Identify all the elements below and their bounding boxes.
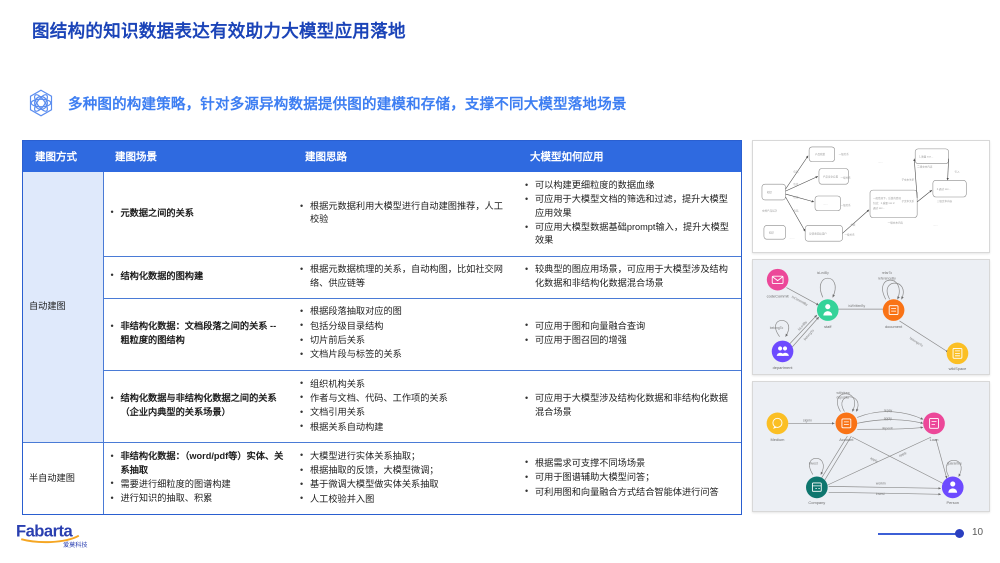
list-item: 人工校验并入图 [299, 493, 510, 506]
list-item: 根据抽取的反馈，大模型微调； [299, 464, 510, 477]
enterprise-knowledge-graph-image: codeCommit staff department docu [752, 259, 990, 375]
approach-list: 根据元数据利用大模型进行自动建图推荐，人工校验 [299, 200, 510, 227]
list-item: 根据段落抽取对应的图 [299, 305, 510, 318]
list-item: 根据需求可支撑不同场场景 [524, 457, 733, 470]
list-item: 切片前后关系 [299, 334, 510, 347]
list-item: 非结构化数据：（word/pdf等）实体、关系抽取 [110, 450, 286, 477]
list-item: 可应用于大模型涉及结构化数据和非结构化数据混合场景 [524, 392, 733, 419]
graph-network-icon [26, 88, 56, 118]
list-item: 可应用大模型数据基础prompt输入，提升大模型效果 [524, 221, 733, 248]
svg-text:包括: 包括 [793, 169, 799, 173]
svg-text:guarantee: guarantee [947, 462, 962, 466]
svg-text:一级关系: 一级关系 [841, 175, 852, 179]
list-item: 可用于图谱辅助大模型问答； [524, 471, 733, 484]
list-item: 较典型的图应用场景，可应用于大模型涉及结构化数据和非结构化数据混合场景 [524, 263, 733, 290]
list-item: 根据元数据梳理的关系，自动构图，比如社交网络、供应链等 [299, 263, 510, 290]
table-row: 自动建图元数据之间的关系根据元数据利用大模型进行自动建图推荐，人工校验可以构建更… [23, 172, 741, 256]
list-item: 作者与文档、代码、工作项的关系 [299, 392, 510, 405]
cell-scene: 非结构化数据：文档段落之间的关系 -- 粗粒度的图结构 [103, 298, 293, 370]
svg-text:……: …… [789, 237, 795, 240]
svg-text:referenceBy: referenceBy [878, 277, 896, 281]
cell-scene: 结构化数据与非结构化数据之间的关系（企业内典型的关系场景） [103, 370, 293, 442]
list-item: 文档引用关系 [299, 406, 510, 419]
table-row: 结构化数据与非结构化数据之间的关系（企业内典型的关系场景）组织机构关系作者与文档… [23, 370, 741, 442]
cell-scene: 结构化数据的图构建 [103, 256, 293, 298]
list-item: 包括分级目录结构 [299, 320, 510, 333]
list-item: 可应用于大模型文档的筛选和过滤，提升大模型应用效果 [524, 193, 733, 220]
svg-text:包括: 包括 [793, 195, 799, 199]
cell-application: 可应用于图和向量融合查询可应用于图召回的增强 [518, 298, 741, 370]
cell-method-auto: 自动建图 [23, 172, 103, 442]
svg-text:wikiSpace: wikiSpace [949, 366, 967, 371]
svg-text:Account: Account [839, 437, 854, 442]
table-header-row: 建图方式 建图场景 建图思路 大模型如何应用 [23, 141, 741, 172]
svg-text:2.通过 xxx…: 2.通过 xxx… [937, 187, 952, 191]
list-item: 大模型进行实体关系抽取； [299, 450, 510, 463]
list-item: 元数据之间的关系 [110, 207, 286, 220]
metadata-lineage-flowchart-image: 知识产品政策 产品安全应用…… 反馈意见给用户知识 一般情况下，反馈的情况包括：… [752, 140, 990, 253]
cell-scene: 元数据之间的关系 [103, 172, 293, 256]
svg-text:Fabarta: Fabarta [16, 522, 73, 541]
list-item: 可以构建更细粒度的数据血缘 [524, 179, 733, 192]
node-wikispace: wikiSpace [947, 343, 969, 372]
svg-text:包括: 包括 [793, 209, 799, 213]
svg-text:Loan: Loan [930, 437, 939, 442]
svg-text:signIn: signIn [803, 418, 812, 422]
svg-text:repay: repay [884, 409, 893, 413]
list-item: 根据元数据利用大模型进行自动建图推荐，人工校验 [299, 200, 510, 227]
node-document: document [883, 299, 905, 329]
svg-text:包括：1.质量 xxx 2.: 包括：1.质量 xxx 2. [873, 201, 896, 205]
svg-text:isWrittenBy: isWrittenBy [848, 304, 865, 308]
col-header-method: 建图方式 [23, 141, 103, 172]
svg-text:……: …… [933, 223, 939, 226]
cell-approach: 大模型进行实体关系抽取；根据抽取的反馈，大模型微调；基于微调大模型做实体关系抽取… [293, 442, 518, 514]
slide-canvas: 图结构的知识数据表达有效助力大模型应用落地 多种图的构建策略，针对多源异构数据提… [0, 0, 1000, 563]
cell-approach: 根据元数据利用大模型进行自动建图推荐，人工校验 [293, 172, 518, 256]
svg-text:子文本关系: 子文本关系 [901, 177, 914, 181]
list-item: 可应用于图和向量融合查询 [524, 320, 733, 333]
svg-text:关联: 关联 [850, 222, 856, 226]
page-number: 10 [972, 527, 983, 538]
svg-text:document: document [885, 324, 903, 329]
svg-text:withdraw: withdraw [837, 391, 851, 395]
svg-text:department: department [773, 365, 794, 370]
svg-text:invest: invest [809, 462, 818, 466]
col-header-application: 大模型如何应用 [518, 141, 741, 172]
svg-text:……: …… [878, 161, 884, 164]
svg-text:codeCommit: codeCommit [767, 293, 790, 298]
list-item: 结构化数据与非结构化数据之间的关系（企业内典型的关系场景） [110, 392, 286, 419]
table-row: 非结构化数据：文档段落之间的关系 -- 粗粒度的图结构根据段落抽取对应的图包括分… [23, 298, 741, 370]
table-row: 半自动建图非结构化数据：（word/pdf等）实体、关系抽取需要进行细粒度的图谱… [23, 442, 741, 514]
svg-text:通过 xxx…: 通过 xxx… [873, 206, 886, 210]
scene-list: 非结构化数据：（word/pdf等）实体、关系抽取需要进行细粒度的图谱构建进行知… [110, 450, 286, 505]
list-item: 非结构化数据：文档段落之间的关系 -- 粗粒度的图结构 [110, 320, 286, 347]
svg-text:belongTo: belongTo [770, 326, 784, 330]
svg-text:apply: apply [884, 416, 892, 420]
node-company: Company [806, 477, 828, 506]
svg-text:……: …… [823, 203, 829, 206]
application-list: 可应用于大模型涉及结构化数据和非结构化数据混合场景 [524, 392, 733, 419]
cell-approach: 根据元数据梳理的关系，自动构图，比如社交网络、供应链等 [293, 256, 518, 298]
col-header-scene: 建图场景 [103, 141, 293, 172]
footer-accent-line [878, 533, 958, 535]
svg-text:一级关系: 一级关系 [841, 203, 852, 207]
footer-accent-dot [955, 529, 964, 538]
svg-text:invest: invest [876, 492, 885, 496]
svg-text:三级文本内容: 三级文本内容 [937, 199, 953, 203]
list-item: 组织机构关系 [299, 378, 510, 391]
svg-text:Medium: Medium [770, 437, 785, 442]
scene-list: 非结构化数据：文档段落之间的关系 -- 粗粒度的图结构 [110, 320, 286, 347]
cell-application: 可以构建更细粒度的数据血缘可应用于大模型文档的筛选和过滤，提升大模型应用效果可应… [518, 172, 741, 256]
svg-text:Person: Person [947, 500, 959, 505]
svg-text:Company: Company [808, 500, 825, 505]
svg-text:爱莫科技: 爱莫科技 [63, 541, 87, 549]
svg-text:知识: 知识 [769, 230, 775, 234]
fabarta-logo: Fabarta 爱莫科技 [16, 520, 112, 552]
approach-list: 根据元数据梳理的关系，自动构图，比如社交网络、供应链等 [299, 263, 510, 290]
svg-text:一级文本内容: 一级文本内容 [888, 221, 904, 225]
col-header-approach: 建图思路 [293, 141, 518, 172]
application-list: 可应用于图和向量融合查询可应用于图召回的增强 [524, 320, 733, 348]
application-list: 根据需求可支撑不同场场景可用于图谱辅助大模型问答；可利用图和向量融合方式结合智能… [524, 457, 733, 499]
svg-text:子文本关系: 子文本关系 [901, 199, 914, 203]
svg-text:一级关系: 一级关系 [839, 152, 850, 156]
cell-scene: 非结构化数据：（word/pdf等）实体、关系抽取需要进行细粒度的图谱构建进行知… [103, 442, 293, 514]
scene-list: 结构化数据的图构建 [110, 270, 286, 283]
cell-application: 可应用于大模型涉及结构化数据和非结构化数据混合场景 [518, 370, 741, 442]
list-item: 文档片段与标签的关系 [299, 348, 510, 361]
cell-approach: 根据段落抽取对应的图包括分级目录结构切片前后关系文档片段与标签的关系 [293, 298, 518, 370]
svg-text:包括: 包括 [793, 182, 799, 186]
svg-text:staff: staff [824, 324, 832, 329]
svg-text:反馈意见给用户: 反馈意见给用户 [809, 231, 827, 235]
svg-text:isLedBy: isLedBy [817, 271, 829, 275]
list-item: 进行知识的抽取、积累 [110, 492, 286, 505]
list-item: 需要进行细粒度的图谱构建 [110, 478, 286, 491]
scene-list: 结构化数据与非结构化数据之间的关系（企业内典型的关系场景） [110, 392, 286, 419]
approach-list: 根据段落抽取对应的图包括分级目录结构切片前后关系文档片段与标签的关系 [299, 305, 510, 361]
table-body: 自动建图元数据之间的关系根据元数据利用大模型进行自动建图推荐，人工校验可以构建更… [23, 172, 741, 514]
svg-text:引入: 引入 [954, 169, 960, 173]
cell-application: 根据需求可支撑不同场场景可用于图谱辅助大模型问答；可利用图和向量融合方式结合智能… [518, 442, 741, 514]
node-codecommit: codeCommit [767, 269, 790, 299]
cell-approach: 组织机构关系作者与文档、代码、工作项的关系文档引用关系根据关系自动构建 [293, 370, 518, 442]
list-item: 根据关系自动构建 [299, 421, 510, 434]
page-title: 图结构的知识数据表达有效助力大模型应用落地 [32, 18, 406, 43]
approach-list: 组织机构关系作者与文档、代码、工作项的关系文档引用关系根据关系自动构建 [299, 378, 510, 434]
svg-text:产品政策: 产品政策 [815, 152, 826, 156]
svg-text:一级关系: 一级关系 [844, 232, 855, 236]
svg-text:一般情况下，反馈的情况: 一般情况下，反馈的情况 [873, 196, 901, 200]
svg-text:refarTo: refarTo [882, 271, 893, 275]
svg-text:二级文本内容: 二级文本内容 [917, 165, 933, 169]
approach-list: 大模型进行实体关系抽取；根据抽取的反馈，大模型微调；基于微调大模型做实体关系抽取… [299, 450, 510, 506]
table-row: 结构化数据的图构建根据元数据梳理的关系，自动构图，比如社交网络、供应链等较典型的… [23, 256, 741, 298]
list-item: 可利用图和向量融合方式结合智能体进行问答 [524, 486, 733, 499]
svg-text:产品安全应用: 产品安全应用 [823, 174, 839, 178]
graph-strategy-table: 建图方式 建图场景 建图思路 大模型如何应用 自动建图元数据之间的关系根据元数据… [22, 140, 742, 515]
application-list: 可以构建更细粒度的数据血缘可应用于大模型文档的筛选和过滤，提升大模型应用效果可应… [524, 179, 733, 248]
svg-text:workIn: workIn [876, 481, 886, 485]
finance-knowledge-graph-image: Medium Account Loan Company [752, 381, 990, 512]
svg-text:1.质量 xxx…: 1.质量 xxx… [919, 155, 934, 159]
application-list: 较典型的图应用场景，可应用于大模型涉及结构化数据和非结构化数据混合场景 [524, 263, 733, 290]
svg-text:知识: 知识 [767, 190, 773, 194]
scene-list: 元数据之间的关系 [110, 207, 286, 220]
svg-text:deposit: deposit [882, 426, 893, 430]
cell-method-semi-auto: 半自动建图 [23, 442, 103, 514]
svg-text:文档产品层次: 文档产品层次 [762, 209, 778, 213]
svg-text:deposits: deposits [837, 396, 850, 400]
list-item: 可应用于图召回的增强 [524, 334, 733, 347]
subtitle-row: 多种图的构建策略，针对多源异构数据提供图的建模和存储，支撑不同大模型落地场景 [26, 88, 627, 118]
subtitle-text: 多种图的构建策略，针对多源异构数据提供图的建模和存储，支撑不同大模型落地场景 [68, 93, 627, 114]
list-item: 结构化数据的图构建 [110, 270, 286, 283]
node-department: department [772, 341, 794, 371]
list-item: 基于微调大模型做实体关系抽取 [299, 478, 510, 491]
cell-application: 较典型的图应用场景，可应用于大模型涉及结构化数据和非结构化数据混合场景 [518, 256, 741, 298]
